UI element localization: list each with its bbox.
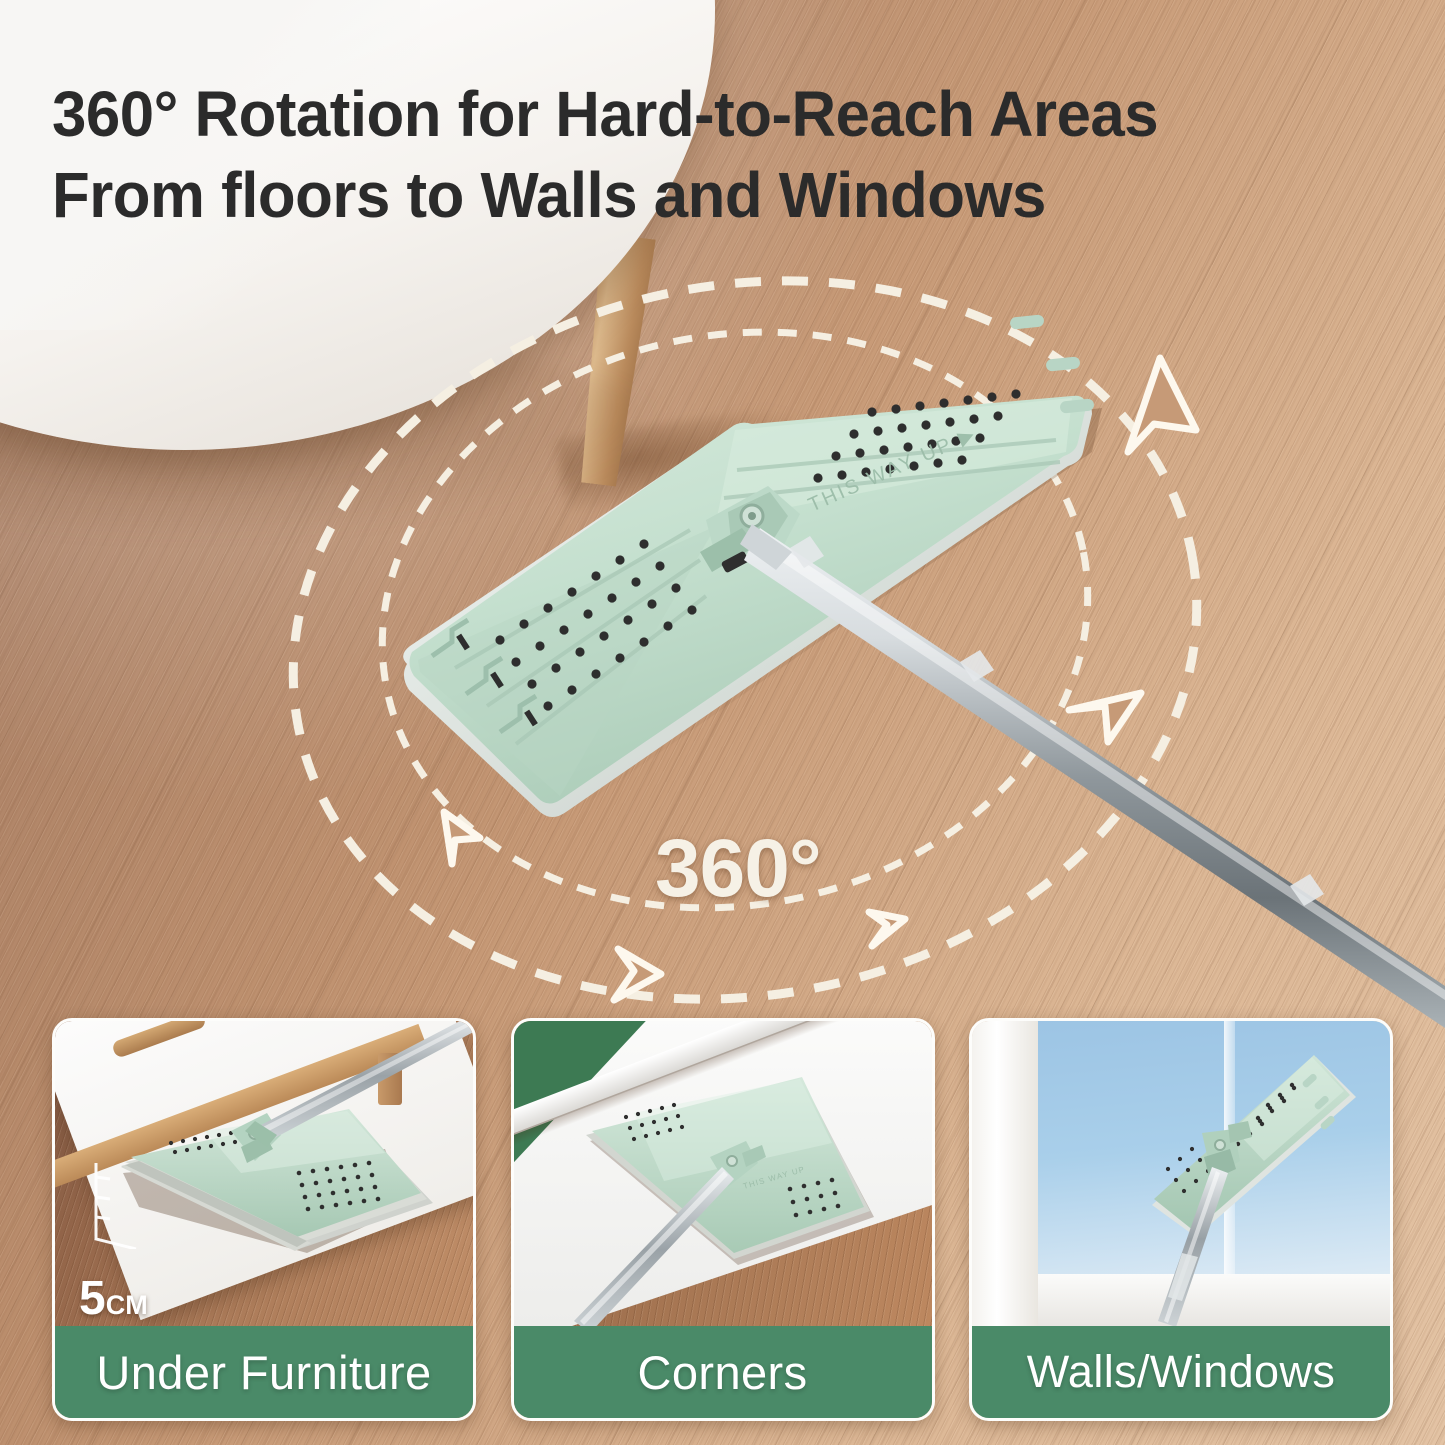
panel-1-caption-bar: Under Furniture (55, 1326, 473, 1418)
product-feature-image: 360° Rotation for Hard-to-Reach Areas Fr… (0, 0, 1445, 1445)
measurement-value: 5 (79, 1272, 106, 1325)
headline-line-2: From floors to Walls and Windows (52, 155, 1355, 236)
height-ruler (88, 1159, 144, 1249)
panel-3-caption-bar: Walls/Windows (972, 1326, 1390, 1418)
panel-under-furniture[interactable]: 5CM Under Furniture (52, 1018, 476, 1421)
panel-corners[interactable]: THIS WAY UP Corners (511, 1018, 935, 1421)
headline-line-1: 360° Rotation for Hard-to-Reach Areas (52, 78, 1158, 150)
measurement-label: 5CM (79, 1271, 148, 1326)
panel-2-caption: Corners (638, 1345, 808, 1400)
panel-walls-windows[interactable]: Walls/Windows (969, 1018, 1393, 1421)
use-case-panels: 5CM Under Furniture (0, 1018, 1445, 1445)
headline: 360° Rotation for Hard-to-Reach Areas Fr… (52, 74, 1355, 235)
panel-3-caption: Walls/Windows (1027, 1346, 1336, 1398)
measurement-unit: CM (106, 1290, 148, 1320)
panel-1-caption: Under Furniture (96, 1345, 431, 1400)
rotation-degree-label: 360° (655, 822, 821, 916)
mop-handle-pole (740, 524, 1445, 1028)
panel-2-caption-bar: Corners (514, 1326, 932, 1418)
